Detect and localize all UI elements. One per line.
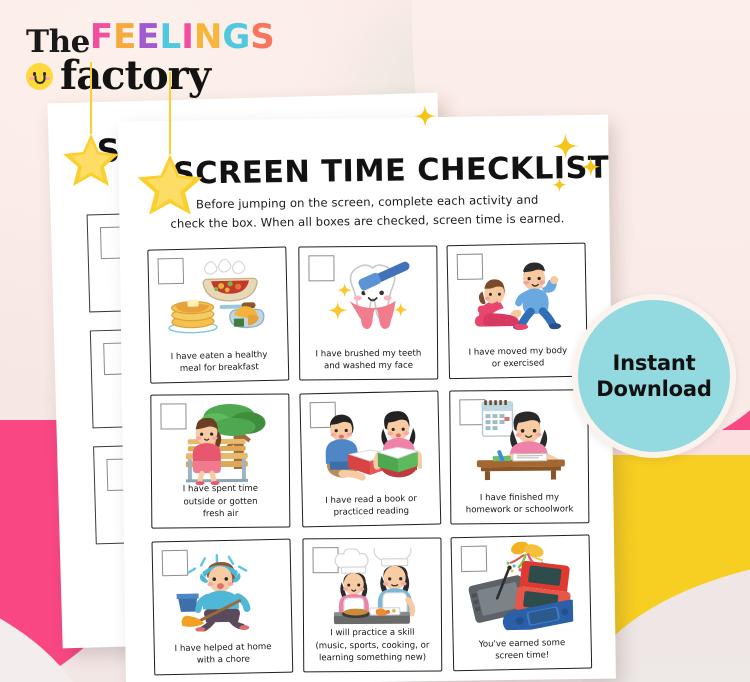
poster-canvas: TheFEELINGS factory SC SCREEN TIME CHECK… <box>0 0 750 682</box>
logo-letter: E <box>136 20 159 54</box>
logo-factory-text: factory <box>60 56 210 96</box>
logo-letter: L <box>160 20 182 54</box>
activity-caption: I have spent timeoutside or gottenfresh … <box>178 483 264 527</box>
activity-card[interactable]: You've earned somescreen time! <box>451 534 592 671</box>
badge-line-1: Instant <box>612 351 695 375</box>
logo-letter: S <box>250 20 275 54</box>
page-subtitle: Before jumping on the screen, complete e… <box>159 190 575 234</box>
activity-caption: I have moved my bodyor exercised <box>464 344 573 377</box>
sparkle-icon <box>552 133 578 164</box>
activity-card[interactable]: I will practice a skill(music, sports, c… <box>302 538 441 673</box>
badge-line-2: Download <box>596 377 711 401</box>
subtitle-line-2: check the box. When all boxes are checke… <box>170 211 564 231</box>
park-bench-tree-icon <box>151 401 288 488</box>
activity-card[interactable]: I have read a book orpracticed reading <box>299 390 441 527</box>
activity-caption: I have eaten a healthymeal for breakfast <box>166 348 273 382</box>
activity-card[interactable]: I have eaten a healthymeal for breakfast <box>147 247 289 384</box>
page-title: SCREEN TIME CHECKLIST <box>173 151 593 192</box>
brand-logo: TheFEELINGS factory <box>26 20 256 96</box>
badge-text: Instant Download <box>596 350 711 402</box>
activity-card[interactable]: I have finished myhomework or schoolwork <box>450 389 590 524</box>
activity-card[interactable]: I have spent timeoutside or gottenfresh … <box>150 394 290 529</box>
activity-caption: I have read a book orpracticed reading <box>320 492 422 526</box>
subtitle-line-1: Before jumping on the screen, complete e… <box>196 193 539 212</box>
healthy-breakfast-icon <box>148 254 287 343</box>
activity-card[interactable]: I have helped at homewith a chore <box>151 539 292 676</box>
logo-letter: F <box>90 20 113 54</box>
activity-card-grid: I have eaten a healthymeal for breakfast… <box>148 243 592 675</box>
activity-caption: I have finished myhomework or schoolwork <box>461 491 579 523</box>
logo-letter: E <box>113 20 136 54</box>
activity-caption: I will practice a skill(music, sports, c… <box>310 627 434 671</box>
smiley-face-icon <box>26 63 53 90</box>
sparkle-icon <box>414 105 436 132</box>
hanging-star-icon <box>136 152 204 222</box>
game-devices-icon <box>452 542 590 631</box>
instant-download-badge[interactable]: Instant Download <box>572 294 736 458</box>
activity-caption: You've earned somescreen time! <box>474 636 571 669</box>
activity-caption: I have helped at homewith a chore <box>170 641 278 675</box>
cooking-chefs-icon <box>303 545 440 632</box>
activity-card[interactable]: I have brushed my teethand washed my fac… <box>298 245 438 380</box>
logo-letter: I <box>181 20 194 54</box>
sweeping-chore-icon <box>153 546 291 635</box>
logo-top-row: TheFEELINGS <box>26 20 256 54</box>
children-reading-icon <box>300 397 439 486</box>
homework-desk-icon <box>451 396 588 483</box>
logo-letter: N <box>194 20 222 54</box>
activity-card[interactable]: I have moved my bodyor exercised <box>447 243 588 380</box>
activity-caption: I have brushed my teethand washed my fac… <box>310 347 426 379</box>
logo-letter: G <box>222 20 250 54</box>
logo-bottom-row: factory <box>26 56 256 96</box>
stretching-kids-icon <box>448 250 586 339</box>
sparkle-icon <box>581 157 601 182</box>
toothbrush-tooth-icon <box>299 253 436 340</box>
sparkle-icon <box>552 177 567 197</box>
hanging-star-icon <box>62 132 120 193</box>
